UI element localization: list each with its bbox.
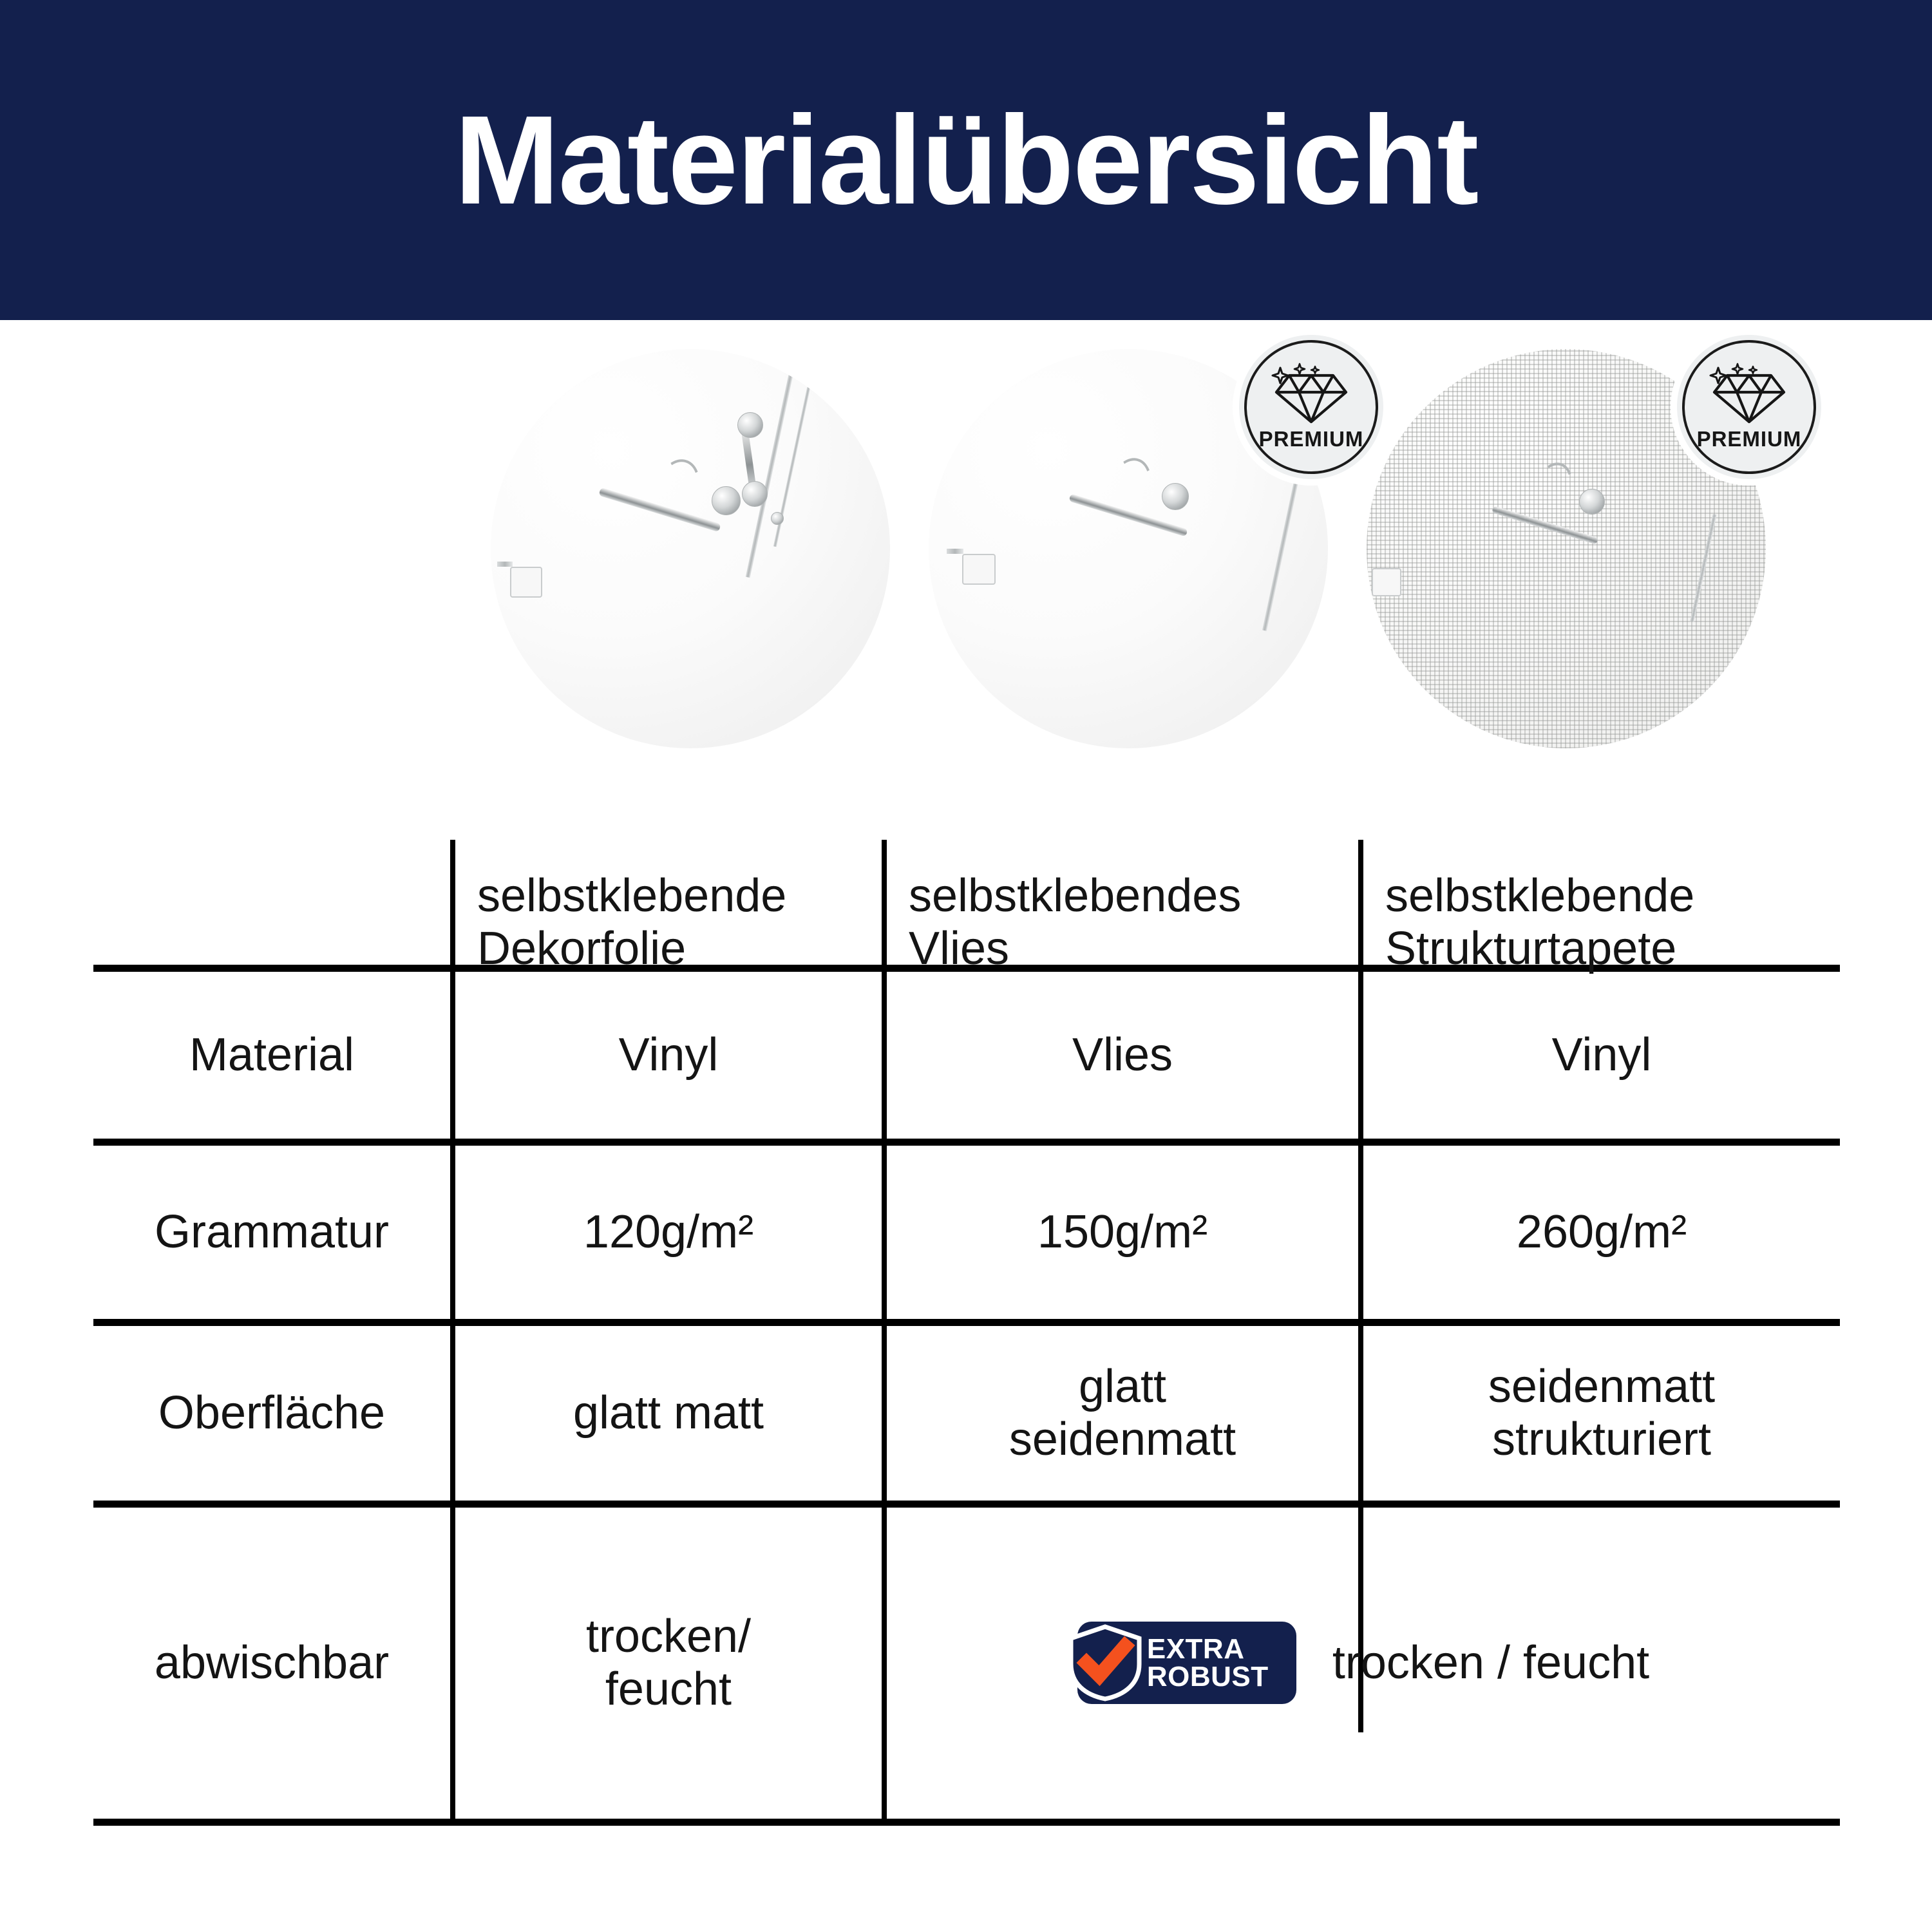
cell-material-strukturtapete: Vinyl bbox=[1363, 972, 1840, 1137]
cell-oberflaeche-strukturtapete: seidenmatt strukturiert bbox=[1363, 1327, 1840, 1499]
table-header-col-3: selbstklebende Strukturtapete bbox=[1363, 866, 1840, 962]
page-title: Materialübersicht bbox=[455, 97, 1478, 223]
hinge-bracket bbox=[962, 554, 996, 585]
table-col-sep-2 bbox=[882, 840, 887, 1819]
latch-knob bbox=[1579, 489, 1605, 515]
cell-oberflaeche-vlies: glatt seidenmatt bbox=[887, 1327, 1358, 1499]
header-col3-line1: selbstklebende bbox=[1385, 869, 1694, 922]
row-label-oberflaeche: Oberfläche bbox=[93, 1327, 450, 1499]
product-sample-strukturtapete[interactable]: PREMIUM bbox=[1367, 349, 1766, 748]
robust-line-2: ROBUST bbox=[1147, 1663, 1269, 1690]
row-label-material: Material bbox=[93, 972, 450, 1137]
cell-material-vlies: Vlies bbox=[887, 972, 1358, 1137]
cell-abwischbar-dekorfolie-line1: trocken/ bbox=[586, 1610, 751, 1663]
premium-label: PREMIUM bbox=[1697, 427, 1802, 451]
cell-abwischbar-dekorfolie: trocken/ feucht bbox=[455, 1508, 882, 1817]
table-header-col-2: selbstklebendes Vlies bbox=[887, 866, 1358, 962]
header-col1-line1: selbstklebende bbox=[477, 869, 786, 922]
table-header-col-1: selbstklebende Dekorfolie bbox=[455, 866, 882, 962]
panel-surface-plain bbox=[491, 349, 890, 748]
extra-robust-badge: EXTRA ROBUST bbox=[1077, 1622, 1296, 1704]
cell-grammatur-dekorfolie: 120g/m² bbox=[455, 1146, 882, 1318]
cell-oberflaeche-struktur-line1: seidenmatt bbox=[1488, 1360, 1715, 1413]
header-col2-line1: selbstklebendes bbox=[909, 869, 1241, 922]
table-rule-2 bbox=[93, 1319, 1840, 1326]
cell-material-dekorfolie: Vinyl bbox=[455, 972, 882, 1137]
hinge-edge bbox=[497, 562, 513, 567]
cell-oberflaeche-vlies-line1: glatt bbox=[1079, 1360, 1166, 1413]
shield-check-icon bbox=[1067, 1624, 1143, 1701]
material-comparison-table: selbstklebende Dekorfolie selbstklebende… bbox=[93, 857, 1840, 1823]
hinge-bracket bbox=[1372, 568, 1401, 596]
premium-badge: PREMIUM bbox=[1677, 335, 1821, 479]
robust-line-1: EXTRA bbox=[1147, 1635, 1269, 1663]
premium-label: PREMIUM bbox=[1259, 427, 1364, 451]
screw-dot bbox=[771, 512, 784, 525]
cell-grammatur-strukturtapete: 260g/m² bbox=[1363, 1146, 1840, 1318]
product-sample-vlies[interactable]: PREMIUM bbox=[929, 349, 1328, 748]
header-col2-line2: Vlies bbox=[909, 922, 1009, 975]
table-rule-1 bbox=[93, 1139, 1840, 1146]
handle-knob-bottom bbox=[742, 481, 768, 507]
hinge-edge bbox=[947, 549, 963, 554]
table-rule-bottom bbox=[93, 1819, 1840, 1826]
hinge-bracket bbox=[510, 567, 542, 598]
latch-knob bbox=[1162, 483, 1189, 510]
shield-icon-svg bbox=[1067, 1624, 1143, 1701]
latch-knob bbox=[712, 486, 741, 515]
cell-abwischbar-merged-text: trocken / feucht bbox=[1332, 1636, 1649, 1689]
handle-knob-top bbox=[737, 412, 763, 438]
table-rule-3 bbox=[93, 1501, 1840, 1508]
diamond-icon bbox=[1271, 363, 1351, 424]
row-label-abwischbar: abwischbar bbox=[93, 1508, 450, 1817]
cell-grammatur-vlies: 150g/m² bbox=[887, 1146, 1358, 1318]
product-image-row: PREMIUM bbox=[0, 320, 1932, 835]
cell-oberflaeche-vlies-line2: seidenmatt bbox=[1009, 1413, 1236, 1466]
extra-robust-text: EXTRA ROBUST bbox=[1147, 1635, 1269, 1690]
cell-oberflaeche-dekorfolie: glatt matt bbox=[455, 1327, 882, 1499]
product-sample-dekorfolie[interactable] bbox=[491, 349, 890, 748]
header-col1-line2: Dekorfolie bbox=[477, 922, 686, 975]
cell-oberflaeche-struktur-line2: strukturiert bbox=[1492, 1413, 1711, 1466]
page-header: Materialübersicht bbox=[0, 0, 1932, 320]
cell-abwischbar-merged: EXTRA ROBUST trocken / feucht bbox=[887, 1508, 1840, 1817]
table-col-sep-1 bbox=[450, 840, 455, 1819]
cell-abwischbar-dekorfolie-line2: feucht bbox=[605, 1663, 732, 1716]
diamond-icon bbox=[1709, 363, 1789, 424]
sample-circle-1 bbox=[491, 349, 890, 748]
header-col3-line2: Strukturtapete bbox=[1385, 922, 1676, 975]
row-label-grammatur: Grammatur bbox=[93, 1146, 450, 1318]
premium-badge: PREMIUM bbox=[1239, 335, 1383, 479]
